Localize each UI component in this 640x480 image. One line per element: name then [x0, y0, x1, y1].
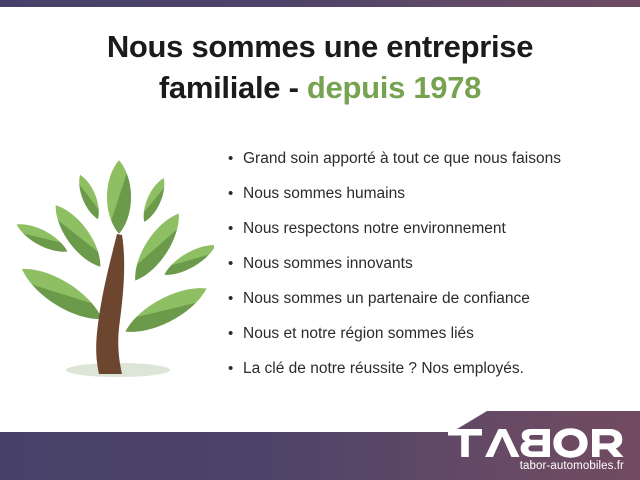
- bullet-icon: •: [228, 151, 243, 166]
- list-item: • Nous sommes innovants: [228, 255, 628, 290]
- list-item: • Nous et notre région sommes liés: [228, 325, 628, 360]
- tree-trunk: [96, 234, 124, 374]
- bullet-icon: •: [228, 361, 243, 376]
- value-proposition-list: • Grand soin apporté à tout ce que nous …: [228, 150, 628, 395]
- slide-canvas: Nous sommes une entreprise familiale - d…: [0, 0, 640, 480]
- tree-illustration: [14, 142, 214, 390]
- bullet-icon: •: [228, 256, 243, 271]
- list-item-label: La clé de notre réussite ? Nos employés.: [243, 360, 628, 378]
- logo-tagline: tabor-automobiles.fr: [446, 460, 626, 472]
- headline-accent: depuis 1978: [307, 70, 481, 105]
- list-item: • Grand soin apporté à tout ce que nous …: [228, 150, 628, 185]
- list-item-label: Grand soin apporté à tout ce que nous fa…: [243, 150, 628, 168]
- headline-line-2-lead: familiale -: [159, 70, 299, 105]
- list-item-label: Nous sommes un partenaire de confiance: [243, 290, 628, 308]
- list-item: • La clé de notre réussite ? Nos employé…: [228, 360, 628, 395]
- list-item-label: Nous sommes humains: [243, 185, 628, 203]
- list-item: • Nous sommes un partenaire de confiance: [228, 290, 628, 325]
- list-item-label: Nous respectons notre environnement: [243, 220, 628, 238]
- footer-band: tabor-automobiles.fr: [0, 400, 640, 480]
- bullet-icon: •: [228, 186, 243, 201]
- headline-line-1: Nous sommes une entreprise: [0, 26, 640, 67]
- logo-wordmark: [446, 427, 626, 459]
- bullet-icon: •: [228, 291, 243, 306]
- list-item-label: Nous et notre région sommes liés: [243, 325, 628, 343]
- list-item: • Nous sommes humains: [228, 185, 628, 220]
- list-item: • Nous respectons notre environnement: [228, 220, 628, 255]
- brand-logo: tabor-automobiles.fr: [446, 427, 626, 472]
- bullet-icon: •: [228, 221, 243, 236]
- list-item-label: Nous sommes innovants: [243, 255, 628, 273]
- headline-line-2: familiale - depuis 1978: [0, 67, 640, 108]
- page-title: Nous sommes une entreprise familiale - d…: [0, 26, 640, 108]
- top-accent-strip: [0, 0, 640, 7]
- bullet-icon: •: [228, 326, 243, 341]
